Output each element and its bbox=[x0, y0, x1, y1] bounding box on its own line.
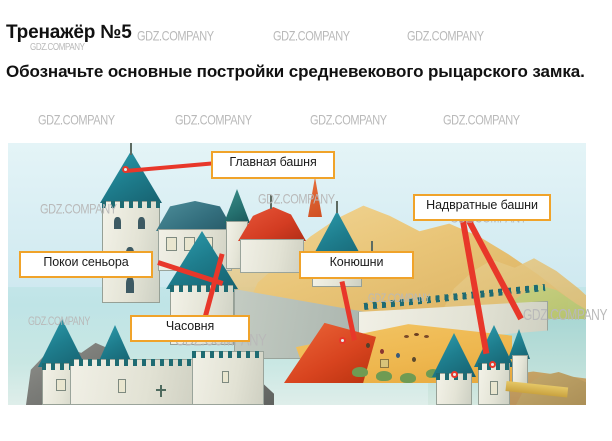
courtyard-cart bbox=[380, 359, 389, 368]
chapel-body bbox=[240, 239, 304, 273]
callout-label-stables: Конюшни bbox=[330, 255, 384, 269]
courtyard-person-1 bbox=[366, 343, 370, 348]
callout-label-gate-towers: Надвратные башни bbox=[426, 198, 538, 212]
center-cone-crenellation bbox=[170, 285, 234, 292]
watermark-text: GDZ.COMPANY bbox=[443, 113, 520, 128]
watermark-text: GDZ.COMPANY bbox=[137, 29, 214, 44]
watermark-text: GDZ.COMPANY bbox=[175, 113, 252, 128]
left-wall-window bbox=[118, 379, 126, 393]
hall-window-1 bbox=[166, 237, 177, 251]
chapel-spire bbox=[270, 195, 272, 209]
courtyard-person-4 bbox=[412, 357, 416, 362]
left-tower-2-roof bbox=[98, 325, 132, 363]
gate-tower-right-window bbox=[490, 381, 498, 395]
callout-chapel[interactable]: Часовня bbox=[130, 315, 250, 342]
callout-label-chapel: Часовня bbox=[166, 319, 214, 333]
page-title: Тренажёр №5 bbox=[6, 22, 132, 44]
pointer-dot-stables bbox=[339, 337, 346, 344]
left-tower-window bbox=[56, 379, 66, 391]
callout-stables[interactable]: Конюшни bbox=[299, 251, 414, 279]
keep-window-1 bbox=[114, 217, 121, 229]
courtyard-bush-1 bbox=[352, 367, 368, 377]
chapel-cross-horizontal bbox=[156, 389, 166, 391]
courtyard-bush-3 bbox=[400, 373, 416, 383]
callout-label-lords-chambers: Покои сеньора bbox=[43, 255, 128, 269]
callout-gate-towers[interactable]: Надвратные башни bbox=[413, 194, 551, 221]
keep-window-2 bbox=[138, 217, 145, 229]
watermark-text: GDZ.COMPANY bbox=[38, 113, 115, 128]
courtyard-person-2 bbox=[380, 349, 384, 354]
chapel-cross-vertical bbox=[160, 385, 162, 397]
courtyard-person-3 bbox=[396, 353, 400, 358]
keep-window-4 bbox=[126, 277, 134, 293]
left-curtain-crenellation bbox=[70, 359, 198, 366]
pointer-dot-gate-left bbox=[451, 371, 458, 378]
stable-tower-spire bbox=[336, 201, 338, 213]
inner-ward-crenellation bbox=[192, 351, 264, 358]
courtyard-bush-2 bbox=[376, 371, 392, 381]
keep-crenellation bbox=[102, 201, 160, 208]
courtyard-horse-2 bbox=[414, 333, 419, 336]
courtyard-horse-3 bbox=[424, 335, 429, 338]
pointer-dot-gate-right bbox=[489, 361, 496, 368]
keep-spire bbox=[130, 143, 132, 155]
callout-main-tower[interactable]: Главная башня bbox=[211, 151, 335, 179]
callout-label-main-tower: Главная башня bbox=[229, 155, 316, 169]
watermark-text: GDZ.COMPANY bbox=[407, 29, 484, 44]
inner-ward-window bbox=[222, 371, 229, 383]
task-instruction: Обозначьте основные постройки средневеко… bbox=[6, 56, 610, 87]
pointer-dot-main-tower bbox=[122, 166, 129, 173]
callout-lords-chambers[interactable]: Покои сеньора bbox=[19, 251, 153, 278]
onion-turret-spire bbox=[371, 241, 373, 251]
courtyard-horse-1 bbox=[404, 335, 409, 338]
watermark-text: GDZ.COMPANY bbox=[310, 113, 387, 128]
watermark-text: GDZ.COMPANY bbox=[273, 29, 350, 44]
gate-turret-small-body bbox=[512, 355, 528, 385]
